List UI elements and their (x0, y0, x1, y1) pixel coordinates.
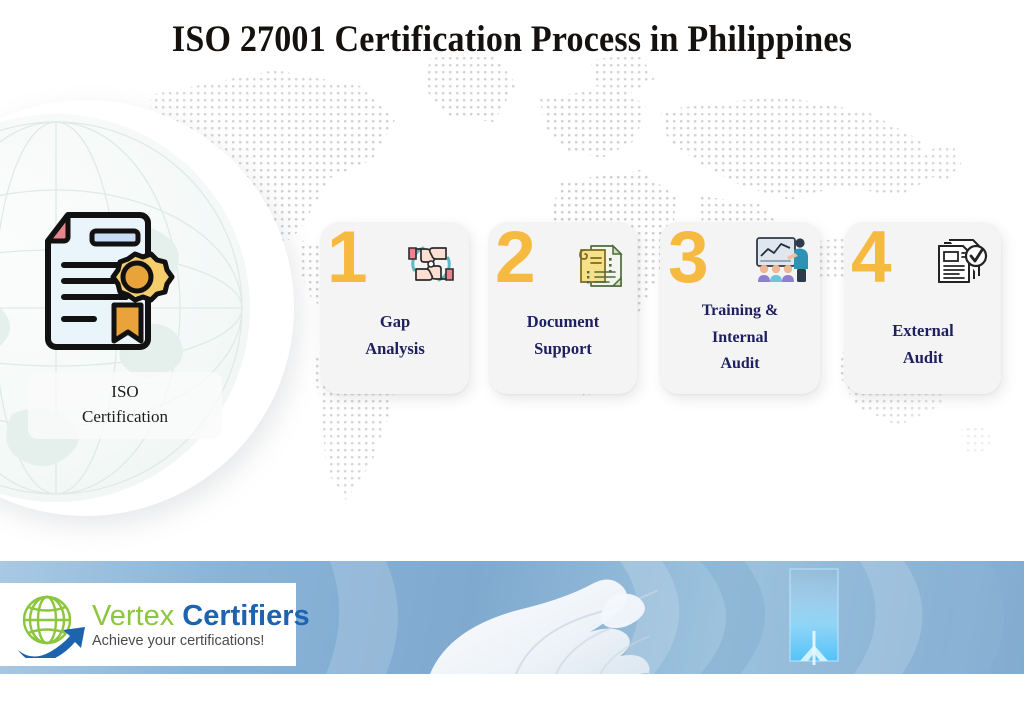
footer-white-strip (0, 674, 1024, 724)
documents-stack-icon (571, 236, 627, 292)
hero-caption-line2: Certification (34, 405, 216, 430)
step-card-header: 4 (845, 222, 1001, 302)
infographic-canvas: ISO 27001 Certification Process in Phili… (0, 0, 1024, 724)
hero-caption: ISO Certification (28, 372, 222, 439)
step-label-line1: External (849, 317, 997, 344)
step-card-gap-analysis[interactable]: 1 Gap Analysis (321, 222, 469, 394)
step-card-training-internal-audit[interactable]: 3 (660, 222, 820, 394)
step-label-line1: Training & (664, 298, 816, 325)
certificate-document-icon (38, 205, 176, 365)
brand-name: Vertex Certifiers (92, 600, 310, 632)
brand-tagline: Achieve your certifications! (92, 633, 310, 649)
document-check-audit-icon (933, 236, 991, 292)
step-label-line2: Internal (664, 325, 816, 352)
brand-text: Vertex Certifiers Achieve your certifica… (92, 600, 310, 649)
step-card-header: 3 (660, 222, 820, 302)
globe-arrow-logo-icon (14, 592, 86, 658)
step-card-header: 2 (489, 222, 637, 302)
step-card-label: Gap Analysis (321, 308, 469, 363)
step-label-line2: Support (493, 335, 633, 362)
hero-caption-line1: ISO (34, 380, 216, 405)
step-card-header: 1 (321, 222, 469, 302)
handshake-partnership-icon (403, 236, 459, 292)
step-number: 4 (851, 220, 891, 296)
step-card-external-audit[interactable]: 4 (845, 222, 1001, 394)
training-presentation-icon (752, 234, 812, 288)
step-label-line2: Audit (849, 344, 997, 371)
step-number: 2 (495, 220, 535, 296)
page-title: ISO 27001 Certification Process in Phili… (41, 18, 983, 61)
step-card-label: Document Support (489, 308, 637, 363)
step-card-label: Training & Internal Audit (660, 298, 820, 378)
step-number: 1 (327, 220, 367, 296)
brand-word-vertex: Vertex (92, 600, 174, 632)
step-label-line1: Gap (325, 308, 465, 335)
step-label-line1: Document (493, 308, 633, 335)
step-label-line2: Analysis (325, 335, 465, 362)
step-label-line3: Audit (664, 351, 816, 378)
step-card-label: External Audit (845, 317, 1001, 372)
step-card-document-support[interactable]: 2 (489, 222, 637, 394)
step-number: 3 (668, 220, 708, 296)
brand-word-certifiers: Certifiers (182, 600, 309, 632)
brand-logo[interactable]: Vertex Certifiers Achieve your certifica… (0, 583, 296, 666)
